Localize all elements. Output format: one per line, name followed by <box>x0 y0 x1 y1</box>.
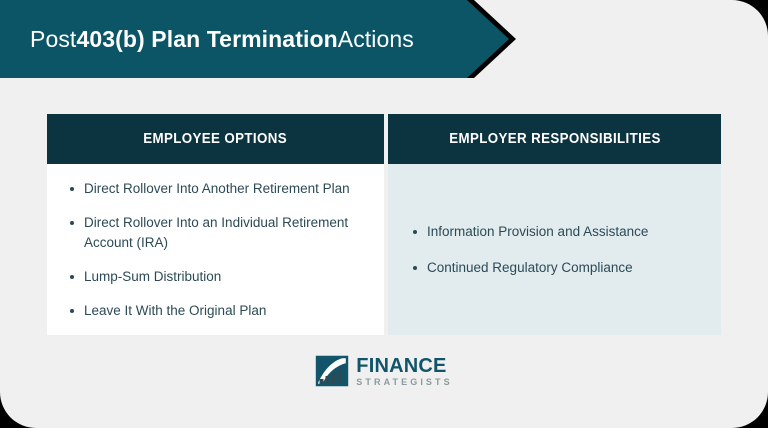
logo-wordmark: FINANCE STRATEGISTS <box>356 356 452 387</box>
page-title-prefix: Post <box>30 28 76 51</box>
table-column-employee-options: EMPLOYEE OPTIONS Direct Rollover Into An… <box>47 114 384 335</box>
list-item: Information Provision and Assistance <box>410 222 703 242</box>
employer-responsibilities-list: Information Provision and Assistance Con… <box>410 222 703 278</box>
page-title: Post 403(b) Plan Termination Actions <box>30 0 414 78</box>
list-item: Direct Rollover Into Another Retirement … <box>67 179 366 199</box>
column-header-employer-responsibilities: EMPLOYER RESPONSIBILITIES <box>388 114 721 164</box>
title-banner: Post 403(b) Plan Termination Actions <box>0 0 768 80</box>
list-item: Leave It With the Original Plan <box>67 301 366 321</box>
page-title-suffix: Actions <box>338 28 414 51</box>
comparison-table: EMPLOYEE OPTIONS Direct Rollover Into An… <box>47 114 721 335</box>
logo-word-primary: FINANCE <box>356 356 446 376</box>
table-column-employer-responsibilities: EMPLOYER RESPONSIBILITIES Information Pr… <box>388 114 721 335</box>
logo-word-secondary: STRATEGISTS <box>356 378 452 387</box>
column-header-label: EMPLOYER RESPONSIBILITIES <box>449 131 661 147</box>
list-item: Lump-Sum Distribution <box>67 267 366 287</box>
column-body-employee-options: Direct Rollover Into Another Retirement … <box>47 164 384 335</box>
finance-strategists-bar-chart-icon <box>315 355 349 387</box>
brand-logo: FINANCE STRATEGISTS <box>0 355 768 387</box>
column-header-employee-options: EMPLOYEE OPTIONS <box>47 114 384 164</box>
list-item: Continued Regulatory Compliance <box>410 258 703 278</box>
column-header-label: EMPLOYEE OPTIONS <box>144 131 288 147</box>
employee-options-list: Direct Rollover Into Another Retirement … <box>67 179 366 321</box>
infographic-canvas: Post 403(b) Plan Termination Actions EMP… <box>0 0 768 428</box>
page-title-emphasis: 403(b) Plan Termination <box>76 28 337 51</box>
list-item: Direct Rollover Into an Individual Retir… <box>67 213 366 253</box>
column-body-employer-responsibilities: Information Provision and Assistance Con… <box>388 164 721 335</box>
